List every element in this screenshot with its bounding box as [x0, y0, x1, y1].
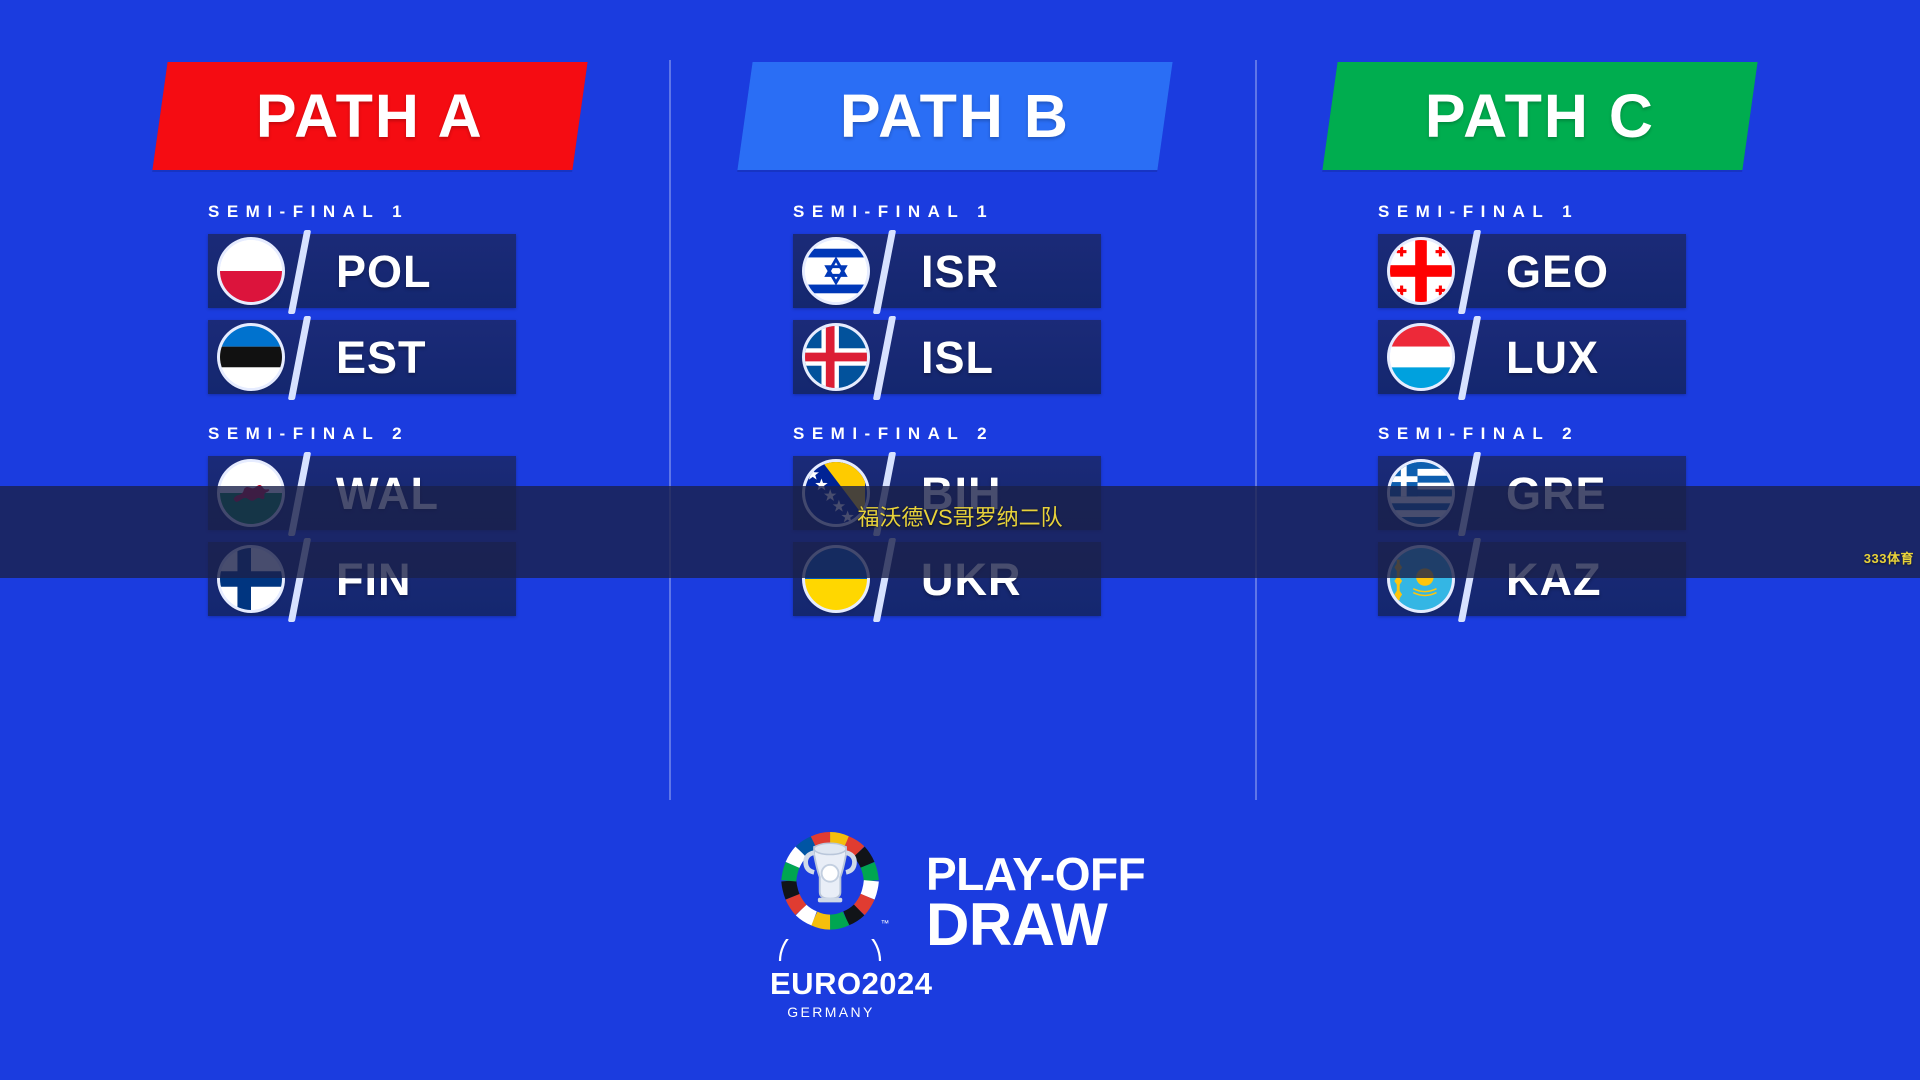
- overlay-match-title: 福沃德VS哥罗纳二队: [0, 500, 1920, 532]
- table-row[interactable]: POL: [208, 234, 516, 308]
- path-a-banner: PATH A: [152, 62, 587, 170]
- euro-2024-logo: ™ UEFA EURO2024 GERMANY: [770, 828, 892, 1020]
- flag-israel-icon: [805, 240, 867, 302]
- playoff-paths-grid: PATH A SEMI-FINAL 1 POL EST SEMI-FINAL 2: [0, 0, 1920, 820]
- path-b-label: PATH B: [840, 86, 1070, 147]
- table-row[interactable]: ISR: [793, 234, 1101, 308]
- path-c-banner: PATH C: [1322, 62, 1757, 170]
- path-b-semifinal-1-label: SEMI-FINAL 1: [793, 202, 1165, 222]
- row-slash-divider: [288, 316, 311, 400]
- path-b-banner: PATH B: [737, 62, 1172, 170]
- team-code: GEO: [1506, 249, 1609, 294]
- path-c-semifinal-1-label: SEMI-FINAL 1: [1378, 202, 1750, 222]
- flag-luxembourg-icon: [1390, 326, 1452, 388]
- svg-text:UEFA: UEFA: [786, 939, 848, 940]
- germany-wordmark: GERMANY: [770, 1004, 892, 1020]
- path-a-semifinal-2-label: SEMI-FINAL 2: [208, 424, 580, 444]
- path-b-semifinal-2-label: SEMI-FINAL 2: [793, 424, 1165, 444]
- path-a-label: PATH A: [256, 86, 484, 147]
- table-row[interactable]: EST: [208, 320, 516, 394]
- team-code: ISL: [921, 335, 994, 380]
- team-code: POL: [336, 249, 432, 294]
- footer-branding: ™ UEFA EURO2024 GERMANY PLAY-OFF DRAW: [0, 828, 1920, 1080]
- uefa-arc-text: UEFA: [770, 939, 890, 965]
- row-slash-divider: [288, 230, 311, 314]
- svg-text:™: ™: [881, 918, 889, 928]
- team-code: LUX: [1506, 335, 1599, 380]
- row-slash-divider: [1458, 316, 1481, 400]
- overlay-watermark: 333体育: [1864, 548, 1914, 567]
- trophy-icon: [806, 843, 855, 902]
- headline-line-1: PLAY-OFF: [926, 852, 1145, 896]
- uefa-text: UEFA: [786, 939, 848, 940]
- table-row[interactable]: ISL: [793, 320, 1101, 394]
- playoff-draw-headline: PLAY-OFF DRAW: [926, 852, 1145, 954]
- team-code: EST: [336, 335, 427, 380]
- stream-overlay-bar: 福沃德VS哥罗纳二队 333体育: [0, 486, 1920, 578]
- table-row[interactable]: LUX: [1378, 320, 1686, 394]
- team-code: ISR: [921, 249, 999, 294]
- row-slash-divider: [873, 316, 896, 400]
- flag-georgia-icon: [1390, 240, 1452, 302]
- headline-line-2: DRAW: [926, 896, 1145, 954]
- euro-2024-wordmark: EURO2024: [770, 968, 892, 999]
- flag-poland-icon: [220, 240, 282, 302]
- flag-estonia-icon: [220, 326, 282, 388]
- path-a-semifinal-1-label: SEMI-FINAL 1: [208, 202, 580, 222]
- table-row[interactable]: GEO: [1378, 234, 1686, 308]
- row-slash-divider: [873, 230, 896, 314]
- path-c-semifinal-2-label: SEMI-FINAL 2: [1378, 424, 1750, 444]
- flag-iceland-icon: [805, 326, 867, 388]
- row-slash-divider: [1458, 230, 1481, 314]
- path-c-label: PATH C: [1425, 86, 1655, 147]
